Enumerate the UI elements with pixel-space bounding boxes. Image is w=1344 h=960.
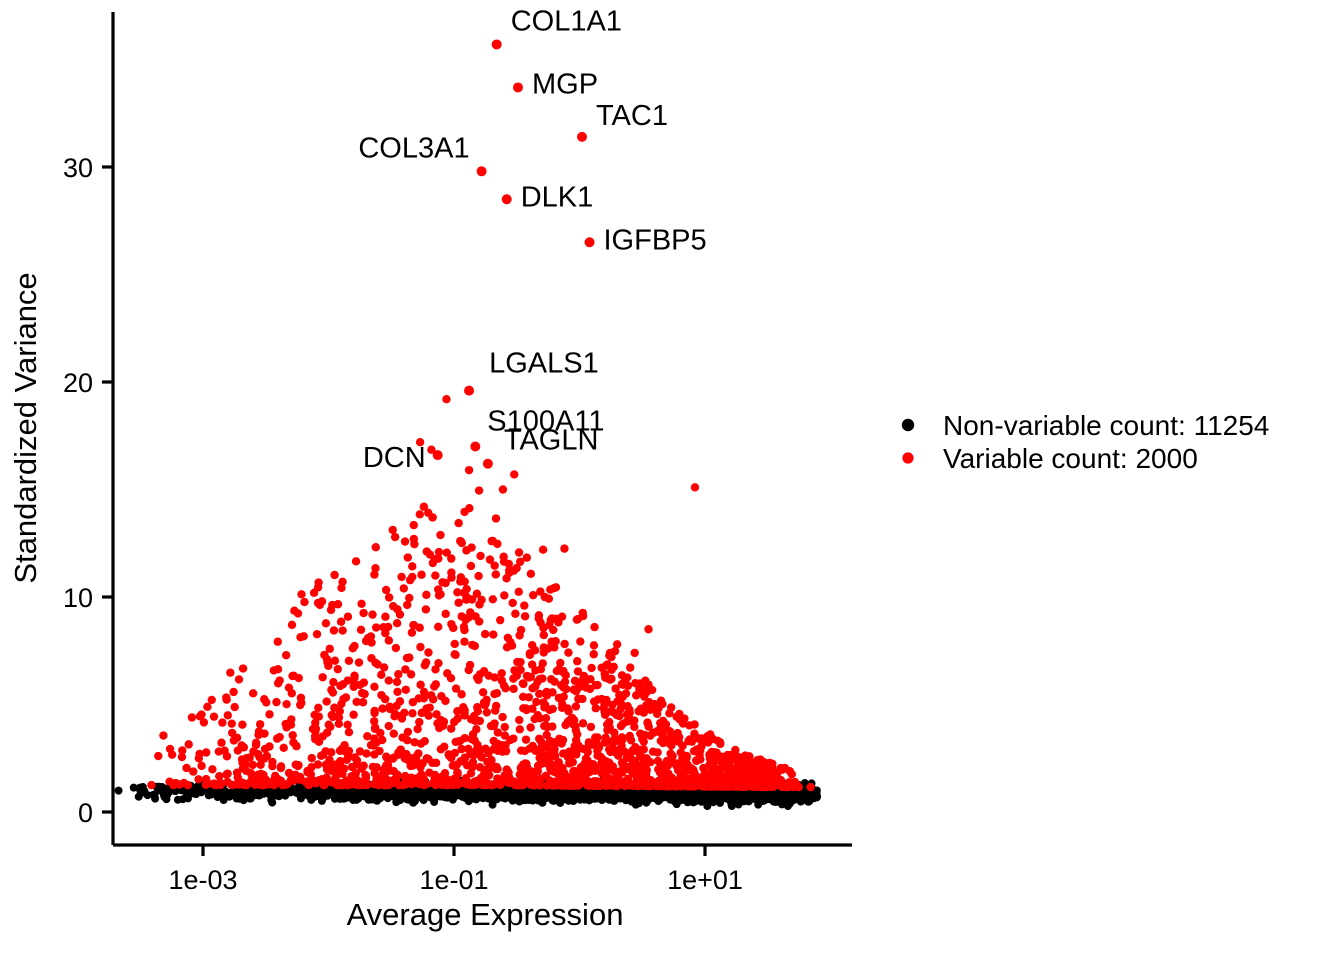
data-point — [605, 745, 613, 753]
data-point — [656, 719, 664, 727]
data-point — [330, 571, 338, 579]
data-point — [393, 678, 401, 686]
data-point — [658, 729, 666, 737]
data-point — [208, 765, 216, 773]
data-point — [372, 774, 380, 782]
data-point — [249, 761, 257, 769]
data-point — [321, 790, 329, 798]
data-point — [678, 769, 686, 777]
data-point — [323, 697, 331, 705]
data-point — [217, 739, 225, 747]
data-point — [336, 682, 344, 690]
data-point — [694, 734, 702, 742]
data-point — [159, 731, 167, 739]
data-point — [602, 696, 610, 704]
data-point — [352, 557, 360, 565]
data-point — [338, 770, 346, 778]
data-point — [517, 746, 525, 754]
data-point — [428, 513, 436, 521]
data-point — [393, 688, 401, 696]
data-point — [654, 797, 662, 805]
data-point — [563, 704, 571, 712]
data-point — [564, 718, 572, 726]
data-point — [601, 761, 609, 769]
data-point — [151, 795, 159, 803]
data-point — [607, 666, 615, 674]
data-point — [352, 791, 360, 799]
data-point — [403, 780, 411, 788]
data-point — [465, 613, 473, 621]
data-point — [426, 792, 434, 800]
data-point — [314, 704, 322, 712]
data-point — [795, 793, 803, 801]
data-point — [476, 763, 484, 771]
data-point — [424, 648, 432, 656]
data-point — [357, 626, 365, 634]
data-point — [578, 695, 586, 703]
data-point — [468, 763, 476, 771]
data-point — [520, 601, 528, 609]
data-point — [606, 775, 614, 783]
data-point — [636, 679, 644, 687]
data-point — [623, 673, 631, 681]
data-point — [292, 742, 300, 750]
data-point — [462, 585, 470, 593]
data-point — [408, 628, 416, 636]
data-point — [509, 685, 517, 693]
data-point — [475, 600, 483, 608]
data-point — [404, 553, 412, 561]
data-point — [471, 789, 479, 797]
data-point — [649, 747, 657, 755]
data-point — [192, 790, 200, 798]
data-point — [566, 752, 574, 760]
data-point — [393, 619, 401, 627]
data-point — [757, 783, 765, 791]
data-point — [268, 758, 276, 766]
data-point — [547, 637, 555, 645]
data-point — [487, 722, 495, 730]
data-point — [382, 586, 390, 594]
data-point — [514, 666, 522, 674]
data-point — [453, 770, 461, 778]
data-point — [645, 698, 653, 706]
data-point — [657, 737, 665, 745]
data-point — [746, 759, 754, 767]
data-point — [487, 537, 495, 545]
data-point — [188, 713, 196, 721]
data-point — [300, 632, 308, 640]
data-point — [806, 783, 814, 791]
data-point — [435, 790, 443, 798]
data-point — [736, 782, 744, 790]
data-point — [267, 796, 275, 804]
data-point — [542, 721, 550, 729]
data-point — [218, 718, 226, 726]
data-point — [416, 681, 424, 689]
data-point — [590, 650, 598, 658]
data-point — [613, 640, 621, 648]
data-point — [616, 745, 624, 753]
data-point — [210, 712, 218, 720]
data-point — [442, 395, 450, 403]
data-point — [326, 723, 334, 731]
data-point — [465, 504, 473, 512]
data-point — [451, 651, 459, 659]
data-point — [500, 591, 508, 599]
data-point — [471, 717, 479, 725]
data-point — [280, 744, 288, 752]
data-point — [136, 787, 144, 795]
data-point — [460, 706, 468, 714]
data-point — [489, 630, 497, 638]
data-point — [582, 683, 590, 691]
data-point — [447, 620, 455, 628]
data-point — [662, 776, 670, 784]
data-point — [579, 719, 587, 727]
data-point — [178, 753, 186, 761]
data-point — [370, 717, 378, 725]
data-point — [538, 799, 546, 807]
data-point — [297, 590, 305, 598]
data-point — [282, 780, 290, 788]
x-axis-tick-label: 1e-01 — [419, 865, 488, 895]
data-point — [541, 701, 549, 709]
data-point — [434, 554, 442, 562]
data-point — [443, 781, 451, 789]
data-point — [372, 623, 380, 631]
data-point — [410, 535, 418, 543]
data-point — [372, 543, 380, 551]
data-point — [594, 695, 602, 703]
data-point — [582, 754, 590, 762]
data-point — [288, 621, 296, 629]
y-axis-tick-label: 0 — [78, 798, 93, 828]
data-point — [593, 733, 601, 741]
data-point — [392, 798, 400, 806]
data-point — [515, 588, 523, 596]
data-point — [408, 562, 416, 570]
data-point — [376, 729, 384, 737]
data-point — [369, 741, 377, 749]
data-point — [573, 744, 581, 752]
data-point — [501, 723, 509, 731]
data-point — [389, 526, 397, 534]
data-point — [240, 781, 248, 789]
data-point — [344, 613, 352, 621]
data-point — [617, 699, 625, 707]
data-point — [728, 770, 736, 778]
data-point — [334, 712, 342, 720]
data-point — [468, 641, 476, 649]
data-point — [691, 483, 699, 491]
data-point — [587, 723, 595, 731]
data-point — [288, 672, 296, 680]
data-point — [252, 739, 260, 747]
data-point — [475, 617, 483, 625]
data-point — [517, 626, 525, 634]
data-point — [373, 763, 381, 771]
data-point — [669, 775, 677, 783]
data-point — [370, 683, 378, 691]
data-point — [409, 698, 417, 706]
data-point — [370, 709, 378, 717]
data-point — [345, 728, 353, 736]
data-point — [617, 722, 625, 730]
data-point — [479, 794, 487, 802]
data-point — [539, 659, 547, 667]
data-point — [326, 645, 334, 653]
data-point — [401, 665, 409, 673]
data-point — [436, 531, 444, 539]
data-point — [480, 780, 488, 788]
data-point — [456, 537, 464, 545]
y-axis-title: Standardized Variance — [8, 272, 43, 583]
data-point — [377, 691, 385, 699]
data-point — [391, 775, 399, 783]
data-point — [472, 746, 480, 754]
data-point — [535, 611, 543, 619]
data-point — [624, 682, 632, 690]
data-point — [265, 742, 273, 750]
data-point — [545, 750, 553, 758]
data-point — [791, 778, 799, 786]
data-point — [504, 634, 512, 642]
data-point — [376, 791, 384, 799]
data-point — [521, 612, 529, 620]
data-point — [243, 793, 251, 801]
data-point — [525, 693, 533, 701]
data-point — [496, 742, 504, 750]
data-point — [465, 666, 473, 674]
data-point — [528, 684, 536, 692]
data-point — [203, 703, 211, 711]
data-point — [417, 571, 425, 579]
data-point — [305, 781, 313, 789]
data-point — [154, 787, 162, 795]
x-axis-tick-label: 1e-03 — [168, 865, 237, 895]
data-point — [528, 742, 536, 750]
data-point — [557, 681, 565, 689]
gene-label-igfbp5: IGFBP5 — [604, 224, 707, 256]
data-point — [539, 546, 547, 554]
data-point — [590, 623, 598, 631]
gene-label-tac1: TAC1 — [596, 100, 668, 132]
data-point — [591, 681, 599, 689]
data-point — [735, 791, 743, 799]
data-point — [522, 735, 530, 743]
data-point — [185, 740, 193, 748]
data-point — [481, 630, 489, 638]
data-point — [462, 593, 470, 601]
data-point — [573, 615, 581, 623]
data-point — [625, 717, 633, 725]
data-point — [288, 689, 296, 697]
data-point — [498, 669, 506, 677]
data-point — [358, 765, 366, 773]
data-point — [168, 750, 176, 758]
data-point — [540, 648, 548, 656]
data-point — [408, 709, 416, 717]
data-point — [378, 704, 386, 712]
data-point — [324, 662, 332, 670]
data-point — [472, 725, 480, 733]
data-point — [560, 544, 568, 552]
data-point — [454, 599, 462, 607]
data-point — [447, 790, 455, 798]
data-point — [194, 775, 202, 783]
data-point — [548, 614, 556, 622]
data-point — [492, 763, 500, 771]
data-point — [576, 637, 584, 645]
data-point — [384, 761, 392, 769]
data-point — [352, 698, 360, 706]
data-point — [565, 773, 573, 781]
data-point — [422, 591, 430, 599]
data-point — [547, 761, 555, 769]
data-point — [746, 780, 754, 788]
data-point — [813, 792, 821, 800]
data-point — [330, 626, 338, 634]
data-point — [583, 676, 591, 684]
data-point — [461, 754, 469, 762]
data-point — [270, 780, 278, 788]
data-point — [403, 654, 411, 662]
data-point — [355, 658, 363, 666]
data-point — [435, 724, 443, 732]
data-point — [453, 714, 461, 722]
gene-label-mgp: MGP — [532, 68, 598, 100]
data-point — [385, 722, 393, 730]
data-point — [282, 700, 290, 708]
data-point — [569, 797, 577, 805]
data-point — [349, 779, 357, 787]
data-point — [590, 763, 598, 771]
data-point — [530, 715, 538, 723]
data-point — [485, 771, 493, 779]
data-point — [453, 588, 461, 596]
data-point — [467, 543, 475, 551]
data-point — [311, 732, 319, 740]
data-point — [356, 747, 364, 755]
data-point — [499, 485, 507, 493]
x-axis-title: Average Expression — [347, 897, 624, 932]
data-point — [234, 773, 242, 781]
gene-label-lgals1: LGALS1 — [489, 348, 599, 380]
data-point — [330, 704, 338, 712]
data-point — [422, 658, 430, 666]
data-point — [359, 609, 367, 617]
data-point — [249, 689, 257, 697]
scatter-plot-figure: 01020301e-031e-011e+01 COL1A1MGPTAC1COL3… — [0, 0, 1344, 960]
data-point — [197, 762, 205, 770]
data-point — [535, 690, 543, 698]
data-point — [197, 710, 205, 718]
data-point — [566, 759, 574, 767]
data-point — [447, 554, 455, 562]
data-point — [394, 670, 402, 678]
data-point — [353, 756, 361, 764]
gene-label-col1a1: COL1A1 — [511, 5, 622, 37]
data-point — [657, 697, 665, 705]
data-point — [300, 598, 308, 606]
data-point — [589, 779, 597, 787]
data-point — [646, 731, 654, 739]
data-point — [202, 775, 210, 783]
data-point — [274, 665, 282, 673]
data-point — [457, 573, 465, 581]
highlighted-gene-point — [483, 459, 493, 469]
gene-label-dlk1: DLK1 — [521, 181, 594, 213]
data-point — [653, 710, 661, 718]
data-point — [410, 738, 418, 746]
data-point — [440, 743, 448, 751]
data-point — [454, 519, 462, 527]
data-point — [598, 664, 606, 672]
data-point — [434, 659, 442, 667]
data-point — [529, 591, 537, 599]
data-point — [675, 710, 683, 718]
data-point — [228, 719, 236, 727]
data-point — [223, 752, 231, 760]
plot-canvas: 01020301e-031e-011e+01 COL1A1MGPTAC1COL3… — [0, 0, 1344, 960]
data-point — [309, 725, 317, 733]
data-point — [510, 470, 518, 478]
data-point — [451, 640, 459, 648]
data-point — [480, 698, 488, 706]
data-point — [460, 638, 468, 646]
data-point — [410, 521, 418, 529]
data-point — [573, 657, 581, 665]
gene-label-col3a1: COL3A1 — [358, 132, 469, 164]
data-point — [515, 548, 523, 556]
data-point — [207, 791, 215, 799]
data-point — [160, 793, 168, 801]
data-point — [498, 713, 506, 721]
legend-marker-variable — [902, 452, 913, 463]
data-point — [223, 778, 231, 786]
data-point — [322, 619, 330, 627]
data-point — [528, 796, 536, 804]
data-point — [555, 770, 563, 778]
data-point — [490, 561, 498, 569]
data-point — [598, 769, 606, 777]
data-point — [392, 644, 400, 652]
data-point — [338, 578, 346, 586]
data-point — [442, 610, 450, 618]
data-point — [282, 651, 290, 659]
data-point — [412, 752, 420, 760]
data-point — [539, 759, 547, 767]
data-point — [543, 691, 551, 699]
gene-label-dcn: DCN — [363, 442, 426, 474]
data-point — [716, 765, 724, 773]
data-point — [401, 537, 409, 545]
data-point — [215, 772, 223, 780]
data-point — [409, 621, 417, 629]
data-point — [416, 643, 424, 651]
legend: Non-variable count: 11254Variable count:… — [902, 410, 1270, 474]
data-point — [319, 751, 327, 759]
highlighted-gene-point — [433, 450, 443, 460]
data-point — [666, 749, 674, 757]
data-point — [397, 573, 405, 581]
data-point — [385, 636, 393, 644]
data-point — [460, 626, 468, 634]
data-point — [484, 671, 492, 679]
data-point — [385, 676, 393, 684]
data-point — [590, 641, 598, 649]
